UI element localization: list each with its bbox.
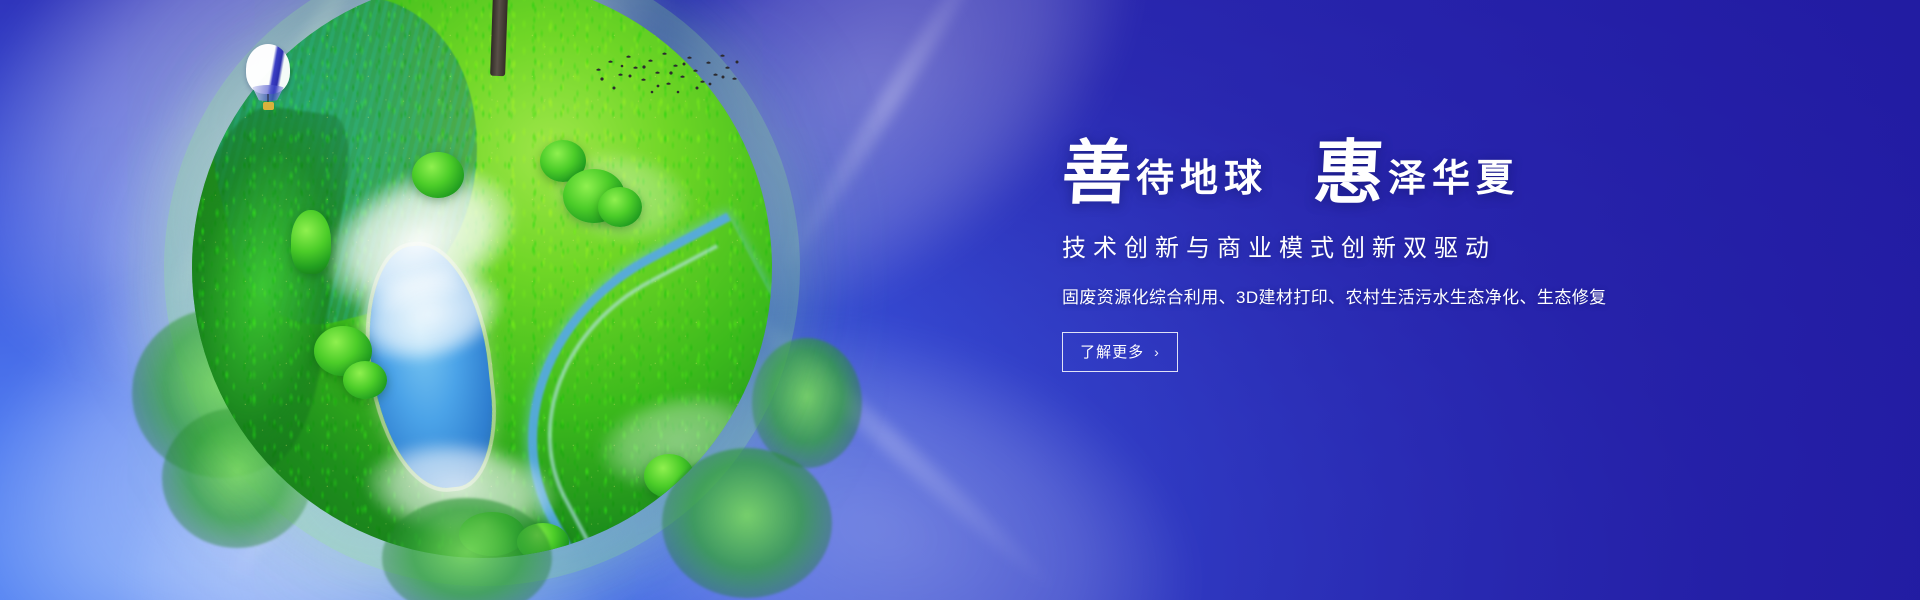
learn-more-button[interactable]: 了解更多 › (1062, 332, 1178, 372)
tree-bush (343, 361, 387, 399)
headline-rest-2: 泽华夏 (1388, 156, 1520, 206)
subtitle: 技术创新与商业模式创新双驱动 (1062, 228, 1762, 263)
balloon-envelope (246, 44, 290, 94)
headline-rest-1: 待地球 (1136, 156, 1268, 206)
learn-more-label: 了解更多 (1080, 341, 1144, 362)
balloon-basket (263, 102, 274, 110)
headline-accent-char-1: 善 (1060, 140, 1133, 206)
cloud-wisp (770, 0, 1010, 283)
hot-air-balloon (246, 44, 290, 112)
tree-bush (598, 187, 642, 227)
tree-bush (291, 210, 331, 274)
headline-group-2: 惠 泽华夏 (1314, 140, 1520, 206)
description: 固废资源化综合利用、3D建材打印、农村生活污水生态净化、生态修复 (1062, 283, 1762, 308)
tree (372, 0, 672, 36)
headline: 善 待地球 惠 泽华夏 (1062, 140, 1762, 206)
chevron-right-icon: › (1154, 345, 1160, 359)
hero-content: 善 待地球 惠 泽华夏 技术创新与商业模式创新双驱动 固废资源化综合利用、3D建… (1062, 140, 1762, 372)
bird-flock (592, 48, 742, 96)
headline-group-1: 善 待地球 (1062, 140, 1268, 206)
edge-tree (662, 448, 832, 598)
headline-accent-char-2: 惠 (1312, 140, 1385, 206)
hero-banner: 善 待地球 惠 泽华夏 技术创新与商业模式创新双驱动 固废资源化综合利用、3D建… (0, 0, 1920, 600)
